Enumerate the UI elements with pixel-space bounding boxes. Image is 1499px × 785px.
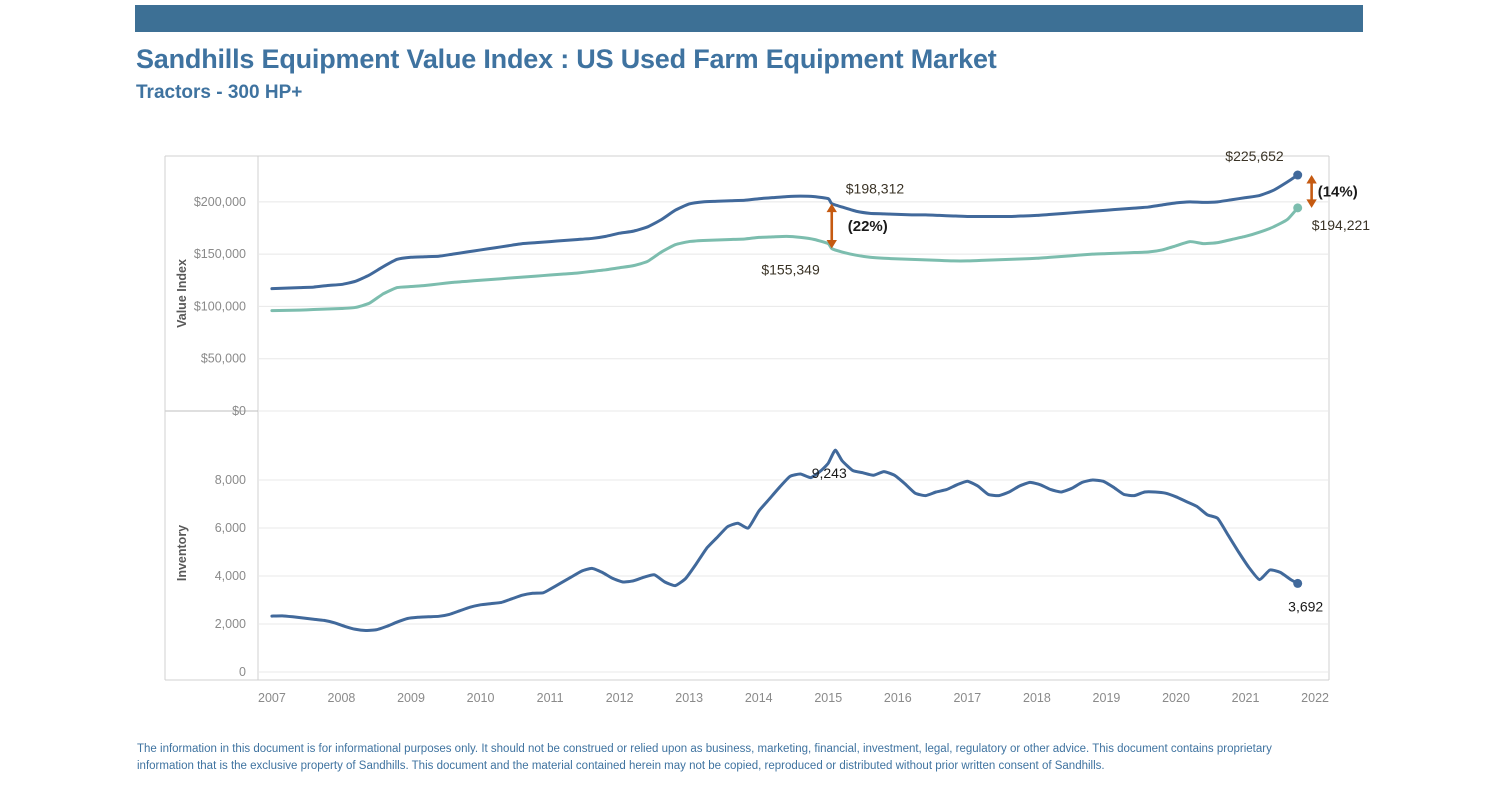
x-axis-tick-label: 2008 — [328, 691, 356, 705]
x-axis-tick-label: 2020 — [1162, 691, 1190, 705]
right-pct-label: (14%) — [1318, 183, 1358, 200]
page-subtitle: Tractors - 300 HP+ — [136, 80, 1336, 106]
value-axis-tick-label: $200,000 — [194, 195, 246, 209]
inventory-axis-tick-label: 6,000 — [215, 521, 246, 535]
inventory-end-marker — [1293, 579, 1302, 588]
x-axis-tick-label: 2013 — [675, 691, 703, 705]
x-axis-tick-label: 2016 — [884, 691, 912, 705]
equipment-value-and-inventory-chart: $0$50,000$100,000$150,000$200,000Value I… — [0, 140, 1400, 720]
value-axis-tick-label: $100,000 — [194, 299, 246, 313]
right-gap-arrow-head-up — [1306, 175, 1316, 184]
value-index-end-marker — [1293, 171, 1302, 180]
inventory-axis-title: Inventory — [175, 525, 189, 581]
inventory-peak-label: 9,243 — [812, 465, 847, 481]
x-axis-tick-label: 2015 — [814, 691, 842, 705]
x-axis-tick-label: 2018 — [1023, 691, 1051, 705]
inventory-line-1 — [272, 450, 1298, 630]
value-axis-tick-label: $50,000 — [201, 352, 246, 366]
x-axis-tick-label: 2019 — [1093, 691, 1121, 705]
right-gap-arrow — [1306, 175, 1316, 208]
x-axis-tick-label: 2022 — [1301, 691, 1329, 705]
mid-lower-label: $155,349 — [761, 262, 820, 278]
x-axis-tick-label: 2009 — [397, 691, 425, 705]
page-title: Sandhills Equipment Value Index : US Use… — [136, 42, 1336, 76]
inventory-axis-tick-label: 2,000 — [215, 617, 246, 631]
mid-gap-arrow — [827, 204, 837, 249]
right-upper-label: $225,652 — [1225, 148, 1284, 164]
disclaimer-footer: The information in this document is for … — [137, 741, 1332, 775]
value-index-line-2 — [272, 208, 1298, 311]
title-block: Sandhills Equipment Value Index : US Use… — [136, 42, 1336, 106]
inventory-axis-tick-label: 4,000 — [215, 569, 246, 583]
mid-upper-label: $198,312 — [846, 181, 905, 197]
x-axis-tick-label: 2011 — [537, 691, 564, 705]
inventory-axis-tick-label: 0 — [239, 665, 246, 679]
x-axis-tick-label: 2007 — [258, 691, 286, 705]
x-axis-tick-label: 2021 — [1232, 691, 1260, 705]
disclaimer-line-1: The information in this document is for … — [137, 741, 1332, 758]
value-index-end-marker — [1293, 203, 1302, 212]
value-axis-tick-label: $150,000 — [194, 247, 246, 261]
chart-container: $0$50,000$100,000$150,000$200,000Value I… — [0, 140, 1400, 720]
disclaimer-line-2: information that is the exclusive proper… — [137, 758, 1332, 775]
x-axis-tick-label: 2012 — [606, 691, 634, 705]
mid-pct-label: (22%) — [848, 218, 888, 235]
inventory-end-label: 3,692 — [1288, 598, 1323, 614]
value-axis-tick-label: $0 — [232, 404, 246, 418]
value-axis-title: Value Index — [175, 259, 189, 328]
x-axis-tick-label: 2014 — [745, 691, 773, 705]
x-axis-tick-label: 2010 — [467, 691, 495, 705]
header-accent-bar — [135, 5, 1363, 32]
x-axis-tick-label: 2017 — [953, 691, 981, 705]
right-lower-label: $194,221 — [1312, 217, 1371, 233]
right-gap-arrow-head-down — [1306, 199, 1316, 208]
inventory-axis-tick-label: 8,000 — [215, 473, 246, 487]
slide-page: Sandhills Equipment Value Index : US Use… — [0, 0, 1499, 785]
